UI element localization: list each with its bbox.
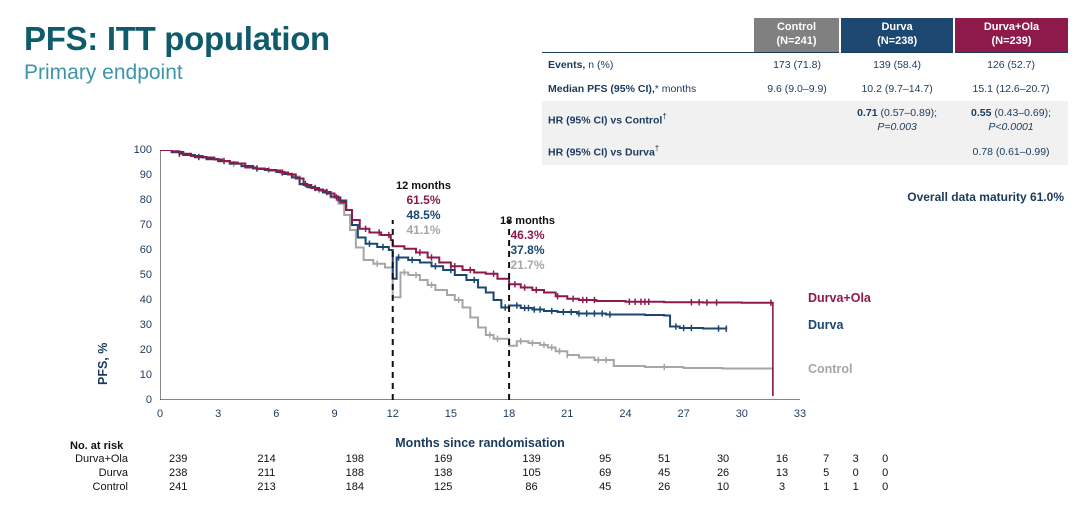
- cell-hr-durva: 0.71 (0.57–0.89); P=0.003: [840, 101, 954, 139]
- annotation-value: 41.1%: [396, 223, 451, 238]
- row-label-median-pfs: Median PFS (95% CI),* months: [542, 77, 754, 101]
- risk-cell: 125: [399, 480, 487, 494]
- y-tick-label: 90: [126, 169, 152, 181]
- curve-label-durva-ola: Durva+Ola: [808, 291, 871, 305]
- row-label-events: Events, n (%): [542, 52, 754, 77]
- y-tick-label: 50: [126, 269, 152, 281]
- risk-cell: 241: [134, 480, 222, 494]
- risk-row: Durva23821118813810569452613500: [0, 466, 900, 480]
- risk-cell: 105: [487, 466, 575, 480]
- risk-cell: 214: [222, 452, 310, 466]
- row-label-hr-vs-control: HR (95% CI) vs Control†: [542, 101, 754, 139]
- risk-cell: 213: [222, 480, 310, 494]
- risk-cell: 86: [487, 480, 575, 494]
- annotation-value: 61.5%: [396, 193, 451, 208]
- x-tick-label: 33: [794, 408, 806, 420]
- risk-cell: 1: [811, 480, 840, 494]
- y-tick-label: 10: [126, 369, 152, 381]
- risk-cell: 7: [811, 452, 840, 466]
- risk-cell: 198: [311, 452, 399, 466]
- y-tick-label: 60: [126, 244, 152, 256]
- risk-cell: 0: [870, 452, 900, 466]
- table-row-events: Events, n (%) 173 (71.8) 139 (58.4) 126 …: [542, 52, 1068, 77]
- risk-cell: 45: [635, 466, 694, 480]
- annotation-ann18: 18 months46.3%37.8%21.7%: [500, 215, 555, 272]
- x-tick-label: 15: [445, 408, 457, 420]
- y-tick-label: 0: [126, 394, 152, 406]
- risk-row-label: Durva+Ola: [0, 452, 134, 466]
- column-header-durva-name: Durva: [843, 21, 951, 35]
- x-tick-label: 27: [678, 408, 690, 420]
- risk-cell: 169: [399, 452, 487, 466]
- km-curve-durva-ola: [160, 150, 773, 396]
- cell-median-control: 9.6 (9.0–9.9): [754, 77, 840, 101]
- risk-cell: 139: [487, 452, 575, 466]
- x-tick-label: 6: [273, 408, 279, 420]
- annotation-title: 12 months: [396, 180, 451, 193]
- km-chart: PFS, % Months since randomisation 010203…: [0, 140, 900, 440]
- risk-cell: 239: [134, 452, 222, 466]
- x-axis-title: Months since randomisation: [395, 436, 564, 450]
- annotation-value: 21.7%: [500, 258, 555, 273]
- risk-row: Durva+Ola23921419816913995513016730: [0, 452, 900, 466]
- column-header-durvaola-name: Durva+Ola: [957, 21, 1066, 35]
- y-tick-label: 80: [126, 194, 152, 206]
- risk-cell: 0: [841, 466, 870, 480]
- page-title: PFS: ITT population: [24, 22, 330, 57]
- column-header-durva-n: (N=238): [843, 35, 951, 49]
- title-block: PFS: ITT population Primary endpoint: [24, 22, 330, 84]
- curve-label-durva: Durva: [808, 318, 843, 332]
- risk-cell: 51: [635, 452, 694, 466]
- risk-cell: 211: [222, 466, 310, 480]
- column-header-durvaola: Durva+Ola (N=239): [954, 18, 1068, 52]
- annotation-ann12: 12 months61.5%48.5%41.1%: [396, 180, 451, 237]
- y-tick-label: 20: [126, 344, 152, 356]
- cell-hr-durvaola: 0.55 (0.43–0.69); P<0.0001: [954, 101, 1068, 139]
- x-tick-label: 24: [619, 408, 631, 420]
- cell-events-control: 173 (71.8): [754, 52, 840, 77]
- x-tick-label: 3: [215, 408, 221, 420]
- annotation-value: 48.5%: [396, 208, 451, 223]
- column-header-control-name: Control: [756, 21, 837, 35]
- risk-cell: 30: [694, 452, 753, 466]
- risk-table: Durva+Ola23921419816913995513016730Durva…: [0, 452, 900, 494]
- number-at-risk-title: No. at risk: [70, 440, 123, 452]
- km-curve-control: [160, 150, 773, 396]
- y-axis-title: PFS, %: [96, 343, 110, 385]
- risk-cell: 16: [753, 452, 812, 466]
- annotation-title: 18 months: [500, 215, 555, 228]
- table-row-hr-vs-control: HR (95% CI) vs Control† 0.71 (0.57–0.89)…: [542, 101, 1068, 139]
- risk-row-label: Control: [0, 480, 134, 494]
- risk-cell: 0: [870, 480, 900, 494]
- table-header-row: Control (N=241) Durva (N=238) Durva+Ola …: [542, 18, 1068, 52]
- cell-events-durva: 139 (58.4): [840, 52, 954, 77]
- curve-label-control: Control: [808, 362, 852, 376]
- risk-cell: 238: [134, 466, 222, 480]
- km-curves-svg: [160, 150, 800, 400]
- column-header-durvaola-n: (N=239): [957, 35, 1066, 49]
- cell-events-durvaola: 126 (52.7): [954, 52, 1068, 77]
- risk-cell: 95: [576, 452, 635, 466]
- cell-median-durva: 10.2 (9.7–14.7): [840, 77, 954, 101]
- annotation-value: 46.3%: [500, 228, 555, 243]
- x-tick-label: 12: [387, 408, 399, 420]
- cell-median-durvaola: 15.1 (12.6–20.7): [954, 77, 1068, 101]
- risk-cell: 69: [576, 466, 635, 480]
- y-tick-label: 30: [126, 319, 152, 331]
- header-spacer: [542, 18, 754, 52]
- x-tick-label: 9: [331, 408, 337, 420]
- risk-cell: 26: [635, 480, 694, 494]
- cell-hrd-durvaola: 0.78 (0.61–0.99): [954, 139, 1068, 165]
- risk-cell: 184: [311, 480, 399, 494]
- risk-cell: 26: [694, 466, 753, 480]
- y-tick-label: 100: [126, 144, 152, 156]
- risk-cell: 45: [576, 480, 635, 494]
- x-tick-label: 0: [157, 408, 163, 420]
- annotation-value: 37.8%: [500, 243, 555, 258]
- table-row-median-pfs: Median PFS (95% CI),* months 9.6 (9.0–9.…: [542, 77, 1068, 101]
- x-tick-label: 18: [503, 408, 515, 420]
- x-tick-label: 21: [561, 408, 573, 420]
- page-subtitle: Primary endpoint: [24, 61, 330, 84]
- x-tick-label: 30: [736, 408, 748, 420]
- risk-cell: 10: [694, 480, 753, 494]
- risk-row-label: Durva: [0, 466, 134, 480]
- risk-cell: 188: [311, 466, 399, 480]
- risk-cell: 13: [753, 466, 812, 480]
- cell-hr-control: [754, 101, 840, 139]
- risk-cell: 138: [399, 466, 487, 480]
- column-header-control: Control (N=241): [754, 18, 840, 52]
- risk-cell: 0: [870, 466, 900, 480]
- plot-area: 0102030405060708090100036912151821242730…: [160, 150, 800, 400]
- number-at-risk-table: No. at risk Durva+Ola2392141981691399551…: [0, 452, 900, 494]
- column-header-durva: Durva (N=238): [840, 18, 954, 52]
- risk-cell: 3: [753, 480, 812, 494]
- risk-row: Control241213184125864526103110: [0, 480, 900, 494]
- column-header-control-n: (N=241): [756, 35, 837, 49]
- risk-cell: 3: [841, 452, 870, 466]
- risk-cell: 5: [811, 466, 840, 480]
- y-tick-label: 40: [126, 294, 152, 306]
- risk-cell: 1: [841, 480, 870, 494]
- y-tick-label: 70: [126, 219, 152, 231]
